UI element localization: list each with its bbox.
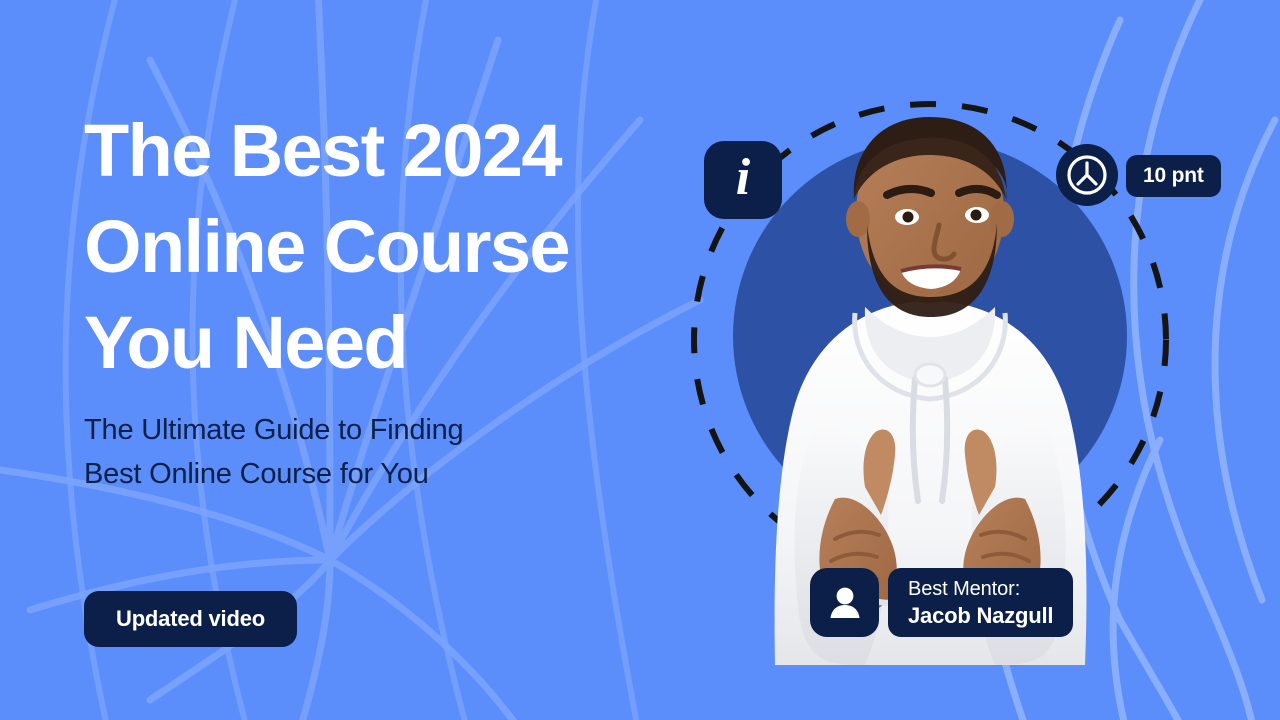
page-title: The Best 2024 Online Course You Need xyxy=(84,103,684,391)
info-badge[interactable]: i xyxy=(704,141,782,219)
subtitle: The Ultimate Guide to Finding Best Onlin… xyxy=(84,408,644,496)
promo-banner: The Best 2024 Online Course You Need The… xyxy=(0,0,1280,720)
mentor-name: Jacob Nazgull xyxy=(908,602,1053,630)
clock-badge[interactable] xyxy=(1056,144,1118,206)
person-icon xyxy=(826,584,864,622)
points-badge[interactable]: 10 pnt xyxy=(1126,155,1221,197)
text-column: The Best 2024 Online Course You Need The… xyxy=(84,0,684,720)
info-icon: i xyxy=(736,152,750,204)
mentor-name-badge[interactable]: Best Mentor: Jacob Nazgull xyxy=(888,568,1073,637)
mentor-avatar-badge[interactable] xyxy=(810,568,879,637)
clock-icon xyxy=(1065,153,1109,197)
mentor-label: Best Mentor: xyxy=(908,576,1020,602)
hero-composition: i 10 pnt Best Mentor: Jacob Nazgull xyxy=(660,0,1280,720)
updated-video-button[interactable]: Updated video xyxy=(84,591,297,647)
